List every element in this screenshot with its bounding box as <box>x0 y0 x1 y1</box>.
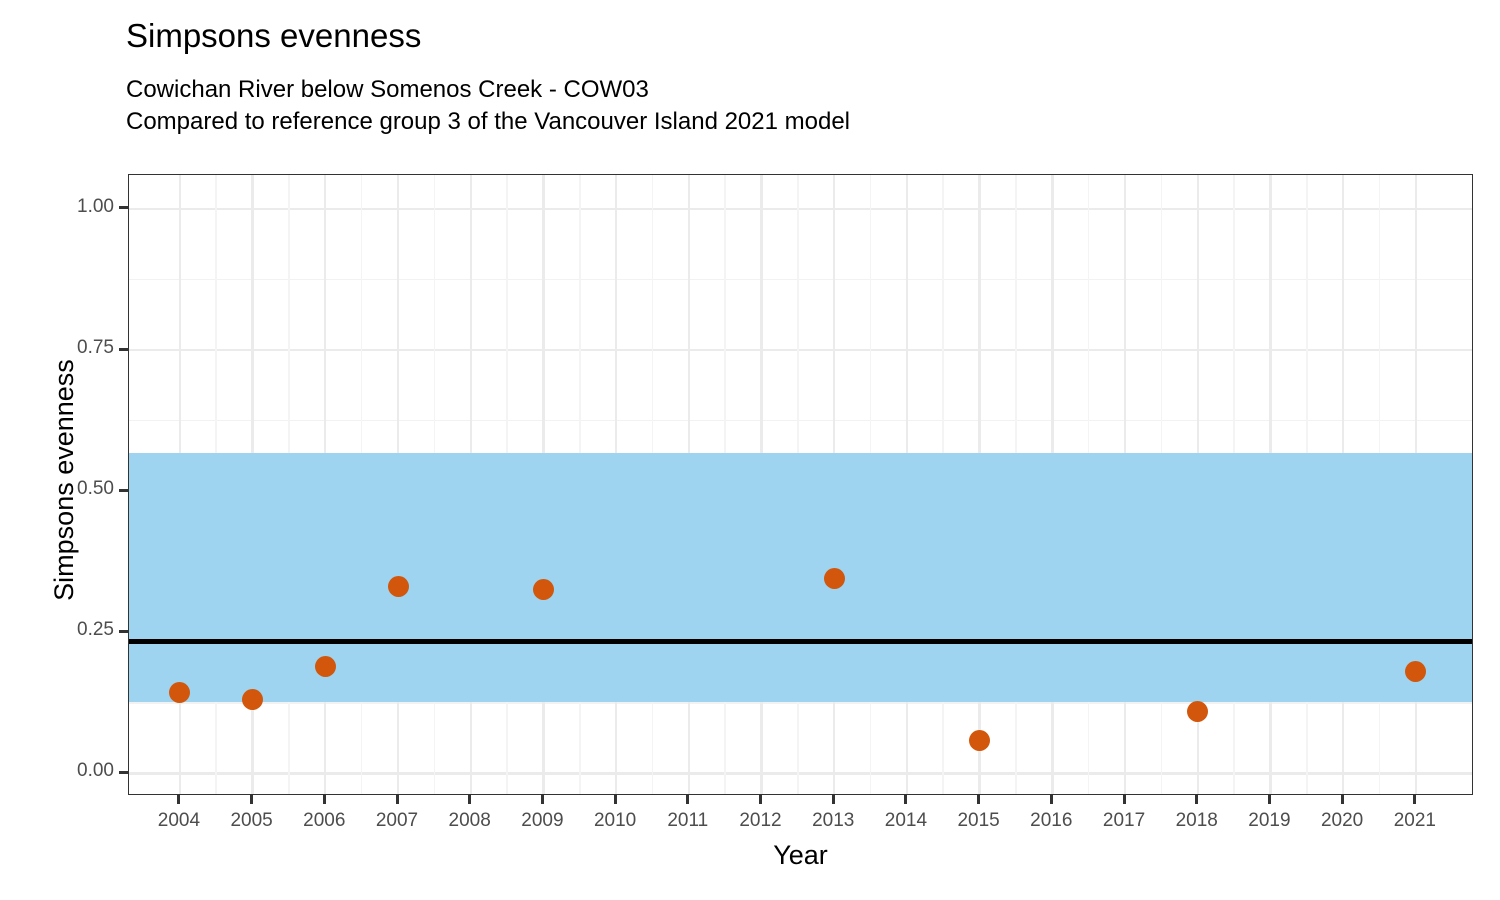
x-tick-label: 2009 <box>507 810 577 832</box>
x-tick-label: 2008 <box>435 810 505 832</box>
x-tick-mark <box>977 795 980 804</box>
data-point[interactable] <box>969 730 990 751</box>
y-tick-label: 1.00 <box>77 196 114 218</box>
x-tick-label: 2015 <box>944 810 1014 832</box>
y-tick-label: 0.25 <box>77 619 114 641</box>
x-tick-mark <box>1268 795 1271 804</box>
x-tick-label: 2018 <box>1162 810 1232 832</box>
x-tick-label: 2014 <box>871 810 941 832</box>
y-tick-mark <box>119 489 128 492</box>
x-tick-mark <box>904 795 907 804</box>
x-tick-label: 2017 <box>1089 810 1159 832</box>
x-tick-label: 2019 <box>1234 810 1304 832</box>
y-tick-mark <box>119 771 128 774</box>
x-tick-label: 2011 <box>653 810 723 832</box>
y-tick-mark <box>119 206 128 209</box>
y-tick-label: 0.75 <box>77 337 114 359</box>
y-tick-mark <box>119 630 128 633</box>
y-tick-mark <box>119 348 128 351</box>
x-tick-label: 2004 <box>144 810 214 832</box>
x-tick-mark <box>1123 795 1126 804</box>
x-tick-label: 2010 <box>580 810 650 832</box>
x-tick-label: 2005 <box>217 810 287 832</box>
x-tick-mark <box>468 795 471 804</box>
x-tick-label: 2012 <box>726 810 796 832</box>
x-tick-mark <box>759 795 762 804</box>
data-point[interactable] <box>315 656 336 677</box>
x-tick-label: 2016 <box>1016 810 1086 832</box>
x-tick-mark <box>177 795 180 804</box>
data-point[interactable] <box>242 689 263 710</box>
y-tick-label: 0.00 <box>77 760 114 782</box>
x-tick-mark <box>323 795 326 804</box>
plot-panel <box>128 174 1473 795</box>
page-title: Simpsons evenness <box>126 16 1466 56</box>
x-tick-mark <box>1341 795 1344 804</box>
y-tick-label: 0.50 <box>77 478 114 500</box>
x-tick-mark <box>686 795 689 804</box>
x-tick-mark <box>832 795 835 804</box>
reference-line <box>129 639 1472 644</box>
data-point[interactable] <box>1187 701 1208 722</box>
title-block: Simpsons evenness Cowichan River below S… <box>126 16 1466 138</box>
x-tick-label: 2021 <box>1380 810 1450 832</box>
data-point[interactable] <box>388 576 409 597</box>
data-point[interactable] <box>1405 661 1426 682</box>
chart-subtitle-line1: Cowichan River below Somenos Creek - COW… <box>126 74 1466 106</box>
x-tick-label: 2007 <box>362 810 432 832</box>
chart-figure: Simpsons evenness Cowichan River below S… <box>0 0 1500 900</box>
x-tick-label: 2013 <box>798 810 868 832</box>
x-tick-mark <box>250 795 253 804</box>
data-point[interactable] <box>824 568 845 589</box>
x-tick-label: 2020 <box>1307 810 1377 832</box>
plot-area <box>129 175 1472 794</box>
chart-subtitle-line2: Compared to reference group 3 of the Van… <box>126 106 1466 138</box>
x-tick-mark <box>541 795 544 804</box>
x-tick-label: 2006 <box>289 810 359 832</box>
x-tick-mark <box>396 795 399 804</box>
x-tick-mark <box>1050 795 1053 804</box>
x-tick-mark <box>1413 795 1416 804</box>
x-axis-title: Year <box>128 840 1473 871</box>
x-tick-mark <box>614 795 617 804</box>
data-point[interactable] <box>533 579 554 600</box>
x-tick-mark <box>1195 795 1198 804</box>
